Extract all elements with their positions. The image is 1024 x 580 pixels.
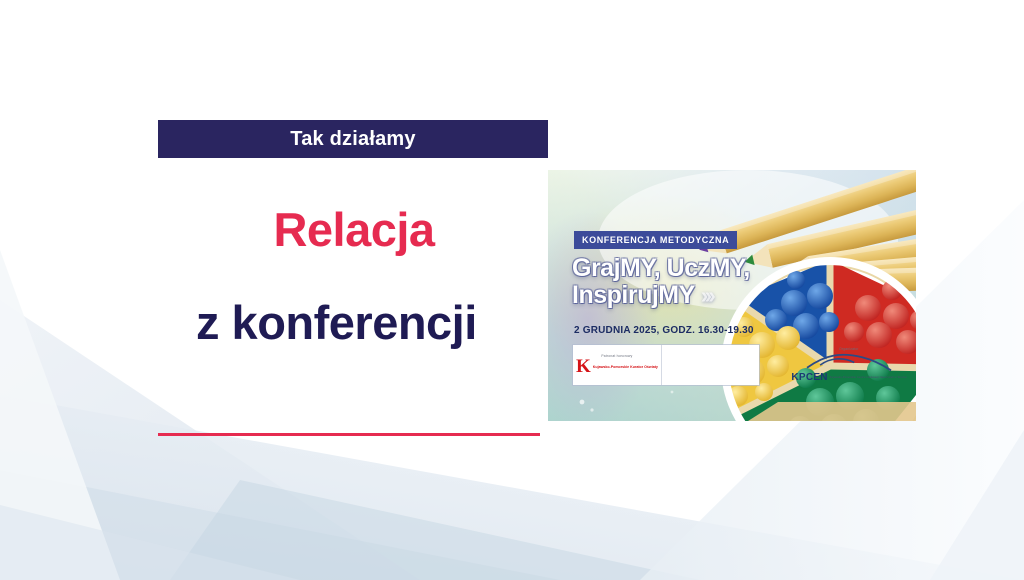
headline-line-2: z konferencji	[158, 299, 550, 346]
conference-poster-image[interactable]: KONFERENCJA METODYCZNA GrajMY, UczMY, In…	[548, 170, 916, 421]
page-root: Tak działamy Relacja z konferencji	[0, 0, 1024, 580]
red-divider-rule	[158, 433, 540, 436]
page-title: Relacja z konferencji	[158, 206, 550, 346]
eyebrow-label: Tak działamy	[290, 128, 415, 151]
left-content-column: Tak działamy Relacja z konferencji	[158, 120, 550, 346]
eyebrow-badge: Tak działamy	[158, 120, 548, 158]
headline-line-1: Relacja	[158, 206, 550, 253]
poster-artwork	[548, 170, 916, 421]
